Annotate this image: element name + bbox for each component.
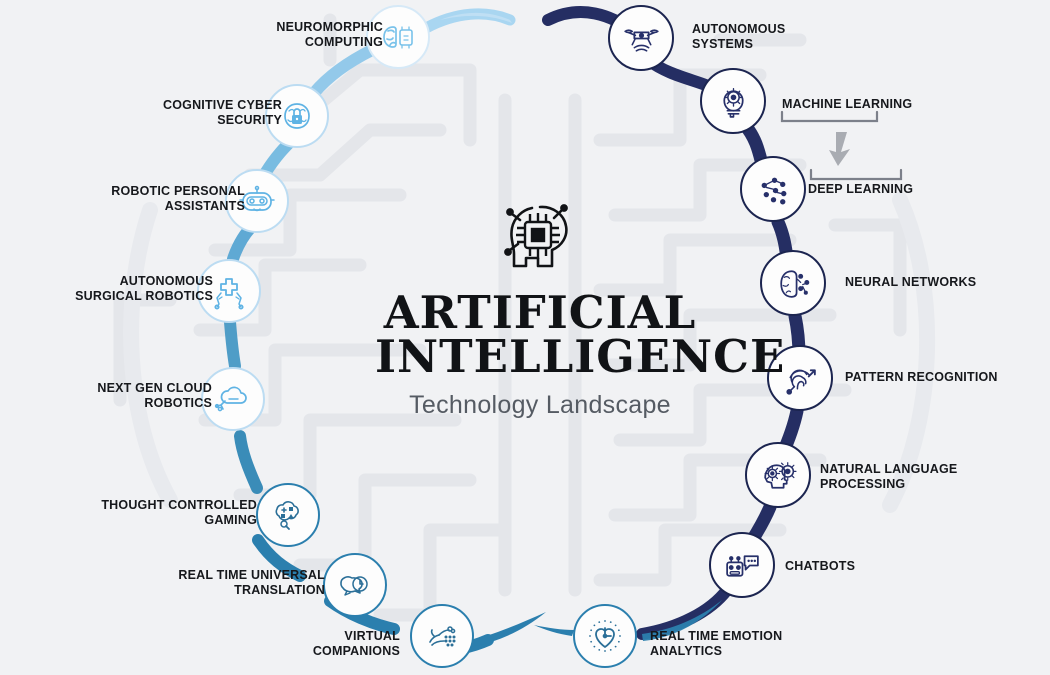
- label-autonomous-systems: AUTONOMOUS SYSTEMS: [692, 22, 852, 52]
- node-virtual-companions[interactable]: [410, 604, 474, 668]
- drone-icon: [621, 18, 662, 59]
- heart-clock-icon: [585, 616, 625, 656]
- neural-nodes-icon: [753, 169, 794, 210]
- chatbot-robot-icon: [722, 545, 763, 586]
- label-machine-learning: MACHINE LEARNING: [782, 97, 972, 112]
- thought-bubble-game-icon: [268, 495, 308, 535]
- speech-bubbles-clock-icon: [335, 565, 375, 605]
- label-neural-networks: NEURAL NETWORKS: [845, 275, 1025, 290]
- node-pattern-recognition[interactable]: [767, 345, 833, 411]
- label-real-time-emotion-analytics: REAL TIME EMOTION ANALYTICS: [650, 629, 830, 659]
- label-autonomous-surgical-robotics: AUTONOMOUS SURGICAL ROBOTICS: [48, 274, 213, 304]
- node-autonomous-systems[interactable]: [608, 5, 674, 71]
- label-next-gen-cloud-robotics: NEXT GEN CLOUD ROBOTICS: [55, 381, 212, 411]
- node-layer: NEUROMORPHIC COMPUTINGCOGNITIVE CYBER SE…: [0, 0, 1050, 675]
- label-virtual-companions: VIRTUAL COMPANIONS: [270, 629, 400, 659]
- label-cognitive-cyber-security: COGNITIVE CYBER SECURITY: [110, 98, 282, 128]
- node-thought-controlled-gaming[interactable]: [256, 483, 320, 547]
- node-deep-learning[interactable]: [740, 156, 806, 222]
- surgical-robot-icon: [209, 271, 249, 311]
- label-deep-learning: DEEP LEARNING: [808, 182, 968, 197]
- fingerprint-icon: [780, 358, 821, 399]
- label-natural-language-processing: NATURAL LANGUAGE PROCESSING: [820, 462, 1000, 492]
- head-gears-icon: [758, 455, 799, 496]
- label-thought-controlled-gaming: THOUGHT CONTROLLED GAMING: [72, 498, 257, 528]
- label-pattern-recognition: PATTERN RECOGNITION: [845, 370, 1045, 385]
- brain-lock-icon: [277, 96, 317, 136]
- label-neuromorphic-computing: NEUROMORPHIC COMPUTING: [228, 20, 383, 50]
- gear-bulb-icon: [713, 81, 754, 122]
- robotic-hand-icon: [422, 616, 462, 656]
- node-real-time-emotion-analytics[interactable]: [573, 604, 637, 668]
- label-real-time-universal-translation: REAL TIME UNIVERSAL TRANSLATION: [140, 568, 325, 598]
- node-machine-learning[interactable]: [700, 68, 766, 134]
- node-chatbots[interactable]: [709, 532, 775, 598]
- label-robotic-personal-assistants: ROBOTIC PERSONAL ASSISTANTS: [68, 184, 245, 214]
- brain-chip-icon: [378, 17, 418, 57]
- node-neural-networks[interactable]: [760, 250, 826, 316]
- infographic-canvas: NEUROMORPHIC COMPUTINGCOGNITIVE CYBER SE…: [0, 0, 1050, 675]
- node-natural-language-processing[interactable]: [745, 442, 811, 508]
- cloud-robot-arm-icon: [213, 379, 253, 419]
- label-chatbots: CHATBOTS: [785, 559, 925, 574]
- node-real-time-universal-translation[interactable]: [323, 553, 387, 617]
- brain-network-icon: [773, 263, 814, 304]
